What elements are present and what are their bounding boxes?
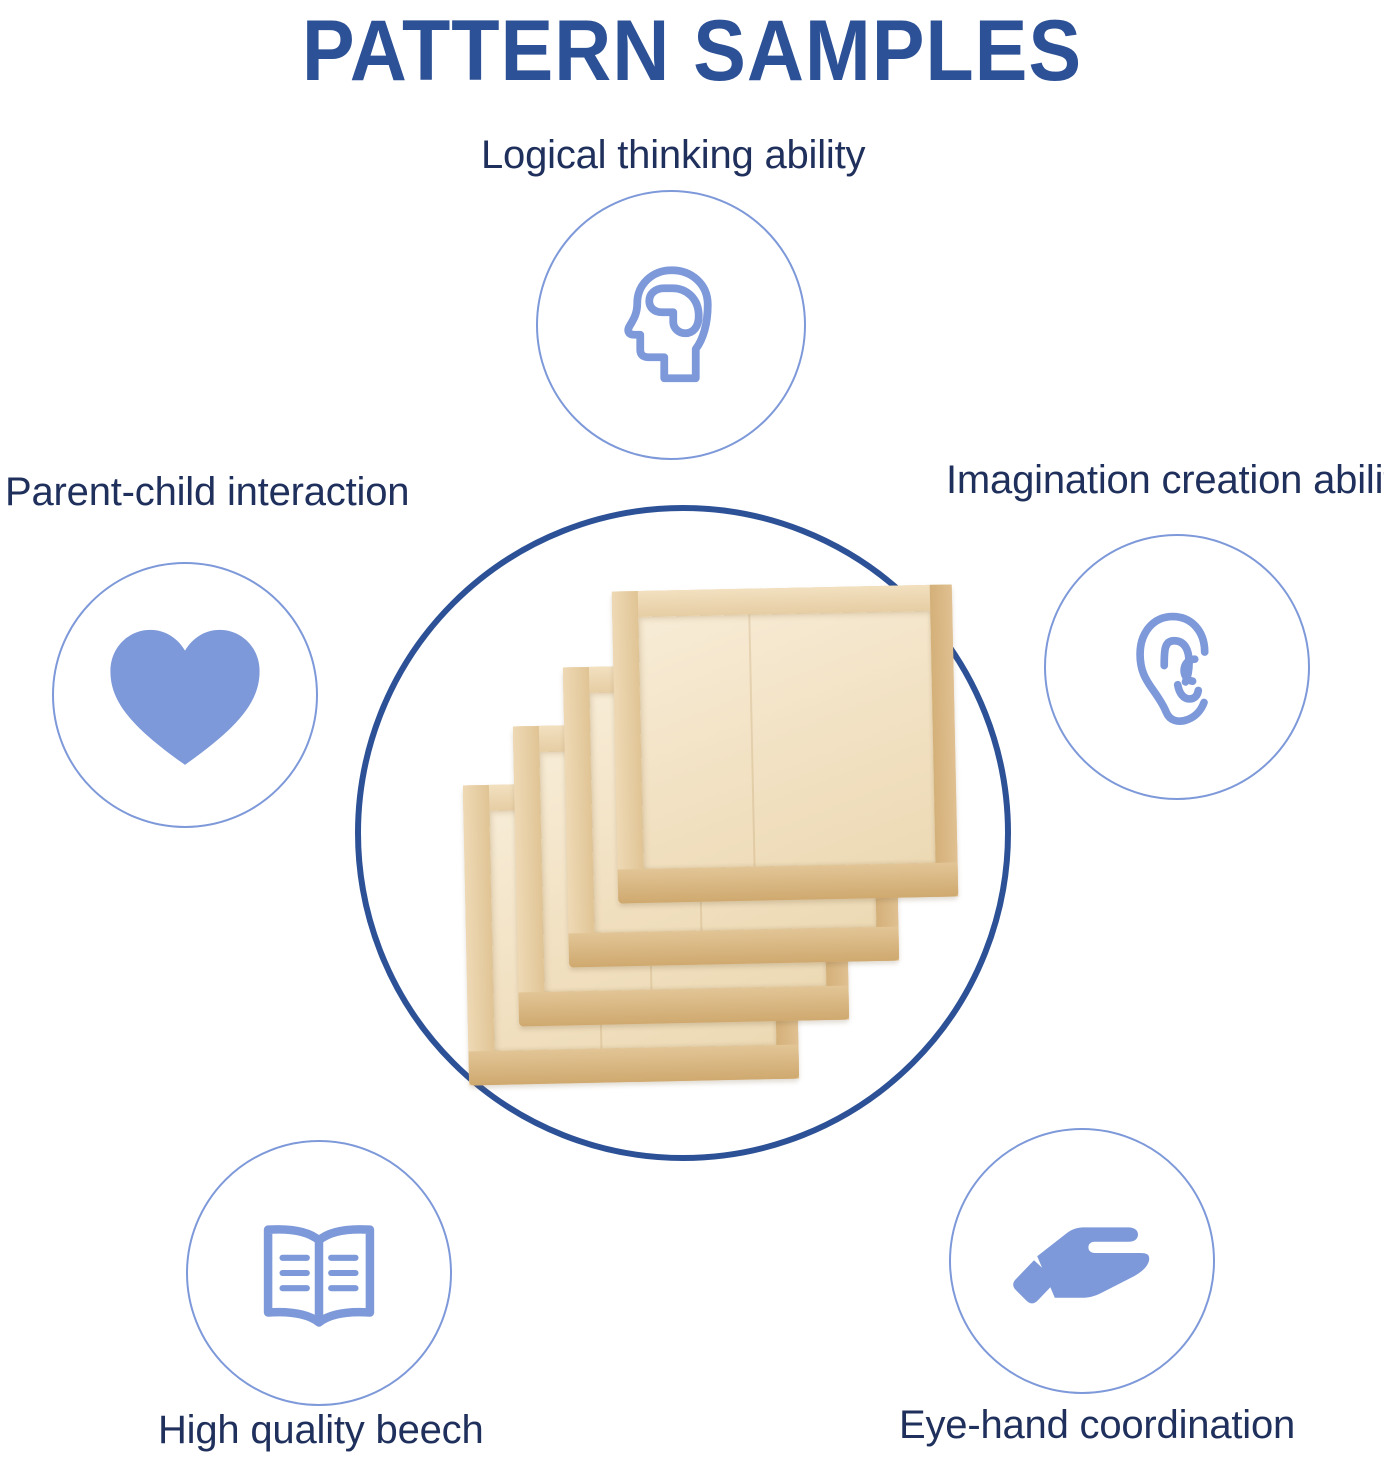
- feature-label-logical-thinking: Logical thinking ability: [481, 133, 865, 178]
- open-hand-icon: [1002, 1181, 1162, 1341]
- open-book-icon: [243, 1197, 395, 1349]
- feature-icon-circle-logical-thinking[interactable]: [536, 190, 806, 460]
- feature-label-imagination-creation: Imagination creation abilit: [946, 458, 1384, 503]
- feature-label-high-quality-beech: High quality beech: [158, 1408, 484, 1453]
- wooden-tray-1: [612, 584, 958, 903]
- feature-label-eye-hand-coordination: Eye-hand coordination: [899, 1403, 1295, 1448]
- feature-icon-circle-eye-hand-coordination[interactable]: [949, 1128, 1215, 1394]
- feature-icon-circle-parent-child-interaction[interactable]: [52, 562, 318, 828]
- pattern-samples-infographic: PATTERN SAMPLES Logical thinking ability…: [0, 0, 1384, 1458]
- feature-icon-circle-high-quality-beech[interactable]: [186, 1140, 452, 1406]
- ear-icon: [1106, 596, 1248, 738]
- feature-icon-circle-imagination-creation[interactable]: [1044, 534, 1310, 800]
- feature-label-parent-child-interaction: Parent-child interaction: [5, 470, 409, 515]
- page-title: PATTERN SAMPLES: [55, 2, 1328, 101]
- wooden-tray-stack: [400, 560, 966, 1106]
- heart-icon: [105, 622, 265, 768]
- brain-head-icon: [596, 250, 746, 400]
